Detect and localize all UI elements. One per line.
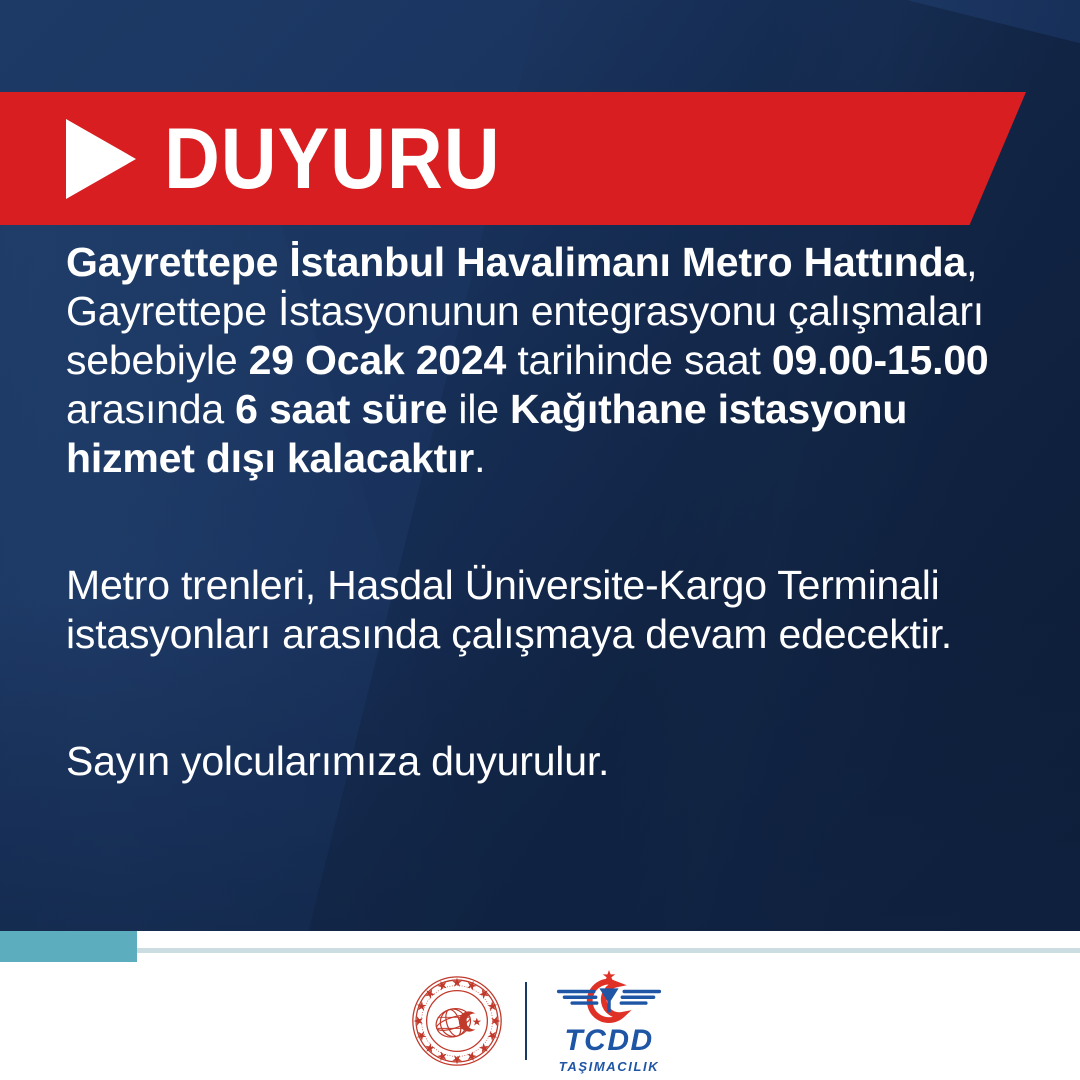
footer-logo-group: TCDD TAŞIMACILIK bbox=[0, 962, 1080, 1080]
announcement-banner: DUYURU bbox=[0, 92, 1026, 225]
announcement-paragraph-3: Sayın yolcularımıza duyurulur. bbox=[66, 737, 1016, 786]
footer-teal-accent-bar bbox=[0, 931, 137, 962]
announcement-paragraph-2: Metro trenleri, Hasdal Üniversite-Kargo … bbox=[66, 561, 1016, 659]
tcdd-subtitle: TAŞIMACILIK bbox=[559, 1060, 659, 1073]
tcdd-wordmark: TCDD bbox=[564, 1026, 653, 1056]
text-run-bold: Gayrettepe İstanbul Havalimanı Metro Hat… bbox=[66, 239, 966, 285]
text-run-bold: 09.00-15.00 bbox=[772, 337, 989, 383]
logo-divider bbox=[525, 982, 527, 1060]
announcement-poster: DUYURU Gayrettepe İstanbul Havalimanı Me… bbox=[0, 0, 1080, 1080]
announcement-paragraph-1: Gayrettepe İstanbul Havalimanı Metro Hat… bbox=[66, 238, 1016, 483]
text-run: tarihinde saat bbox=[506, 337, 772, 383]
ministry-seal-icon bbox=[411, 975, 503, 1067]
text-run: . bbox=[474, 435, 485, 481]
tcdd-logo: TCDD TAŞIMACILIK bbox=[549, 970, 669, 1073]
tcdd-winged-crescent-icon bbox=[549, 970, 669, 1024]
footer-rule-line bbox=[137, 948, 1080, 953]
text-run: Sayın yolcularımıza duyurulur. bbox=[66, 738, 609, 784]
play-triangle-icon bbox=[66, 119, 136, 199]
text-run: arasında bbox=[66, 386, 235, 432]
text-run-bold: 6 saat süre bbox=[235, 386, 447, 432]
text-run-bold: 29 Ocak 2024 bbox=[249, 337, 507, 383]
announcement-body: Gayrettepe İstanbul Havalimanı Metro Hat… bbox=[66, 238, 1016, 786]
text-run: ile bbox=[447, 386, 510, 432]
text-run: Metro trenleri, Hasdal Üniversite-Kargo … bbox=[66, 562, 952, 657]
page-title: DUYURU bbox=[164, 116, 501, 202]
footer: TCDD TAŞIMACILIK bbox=[0, 931, 1080, 1080]
